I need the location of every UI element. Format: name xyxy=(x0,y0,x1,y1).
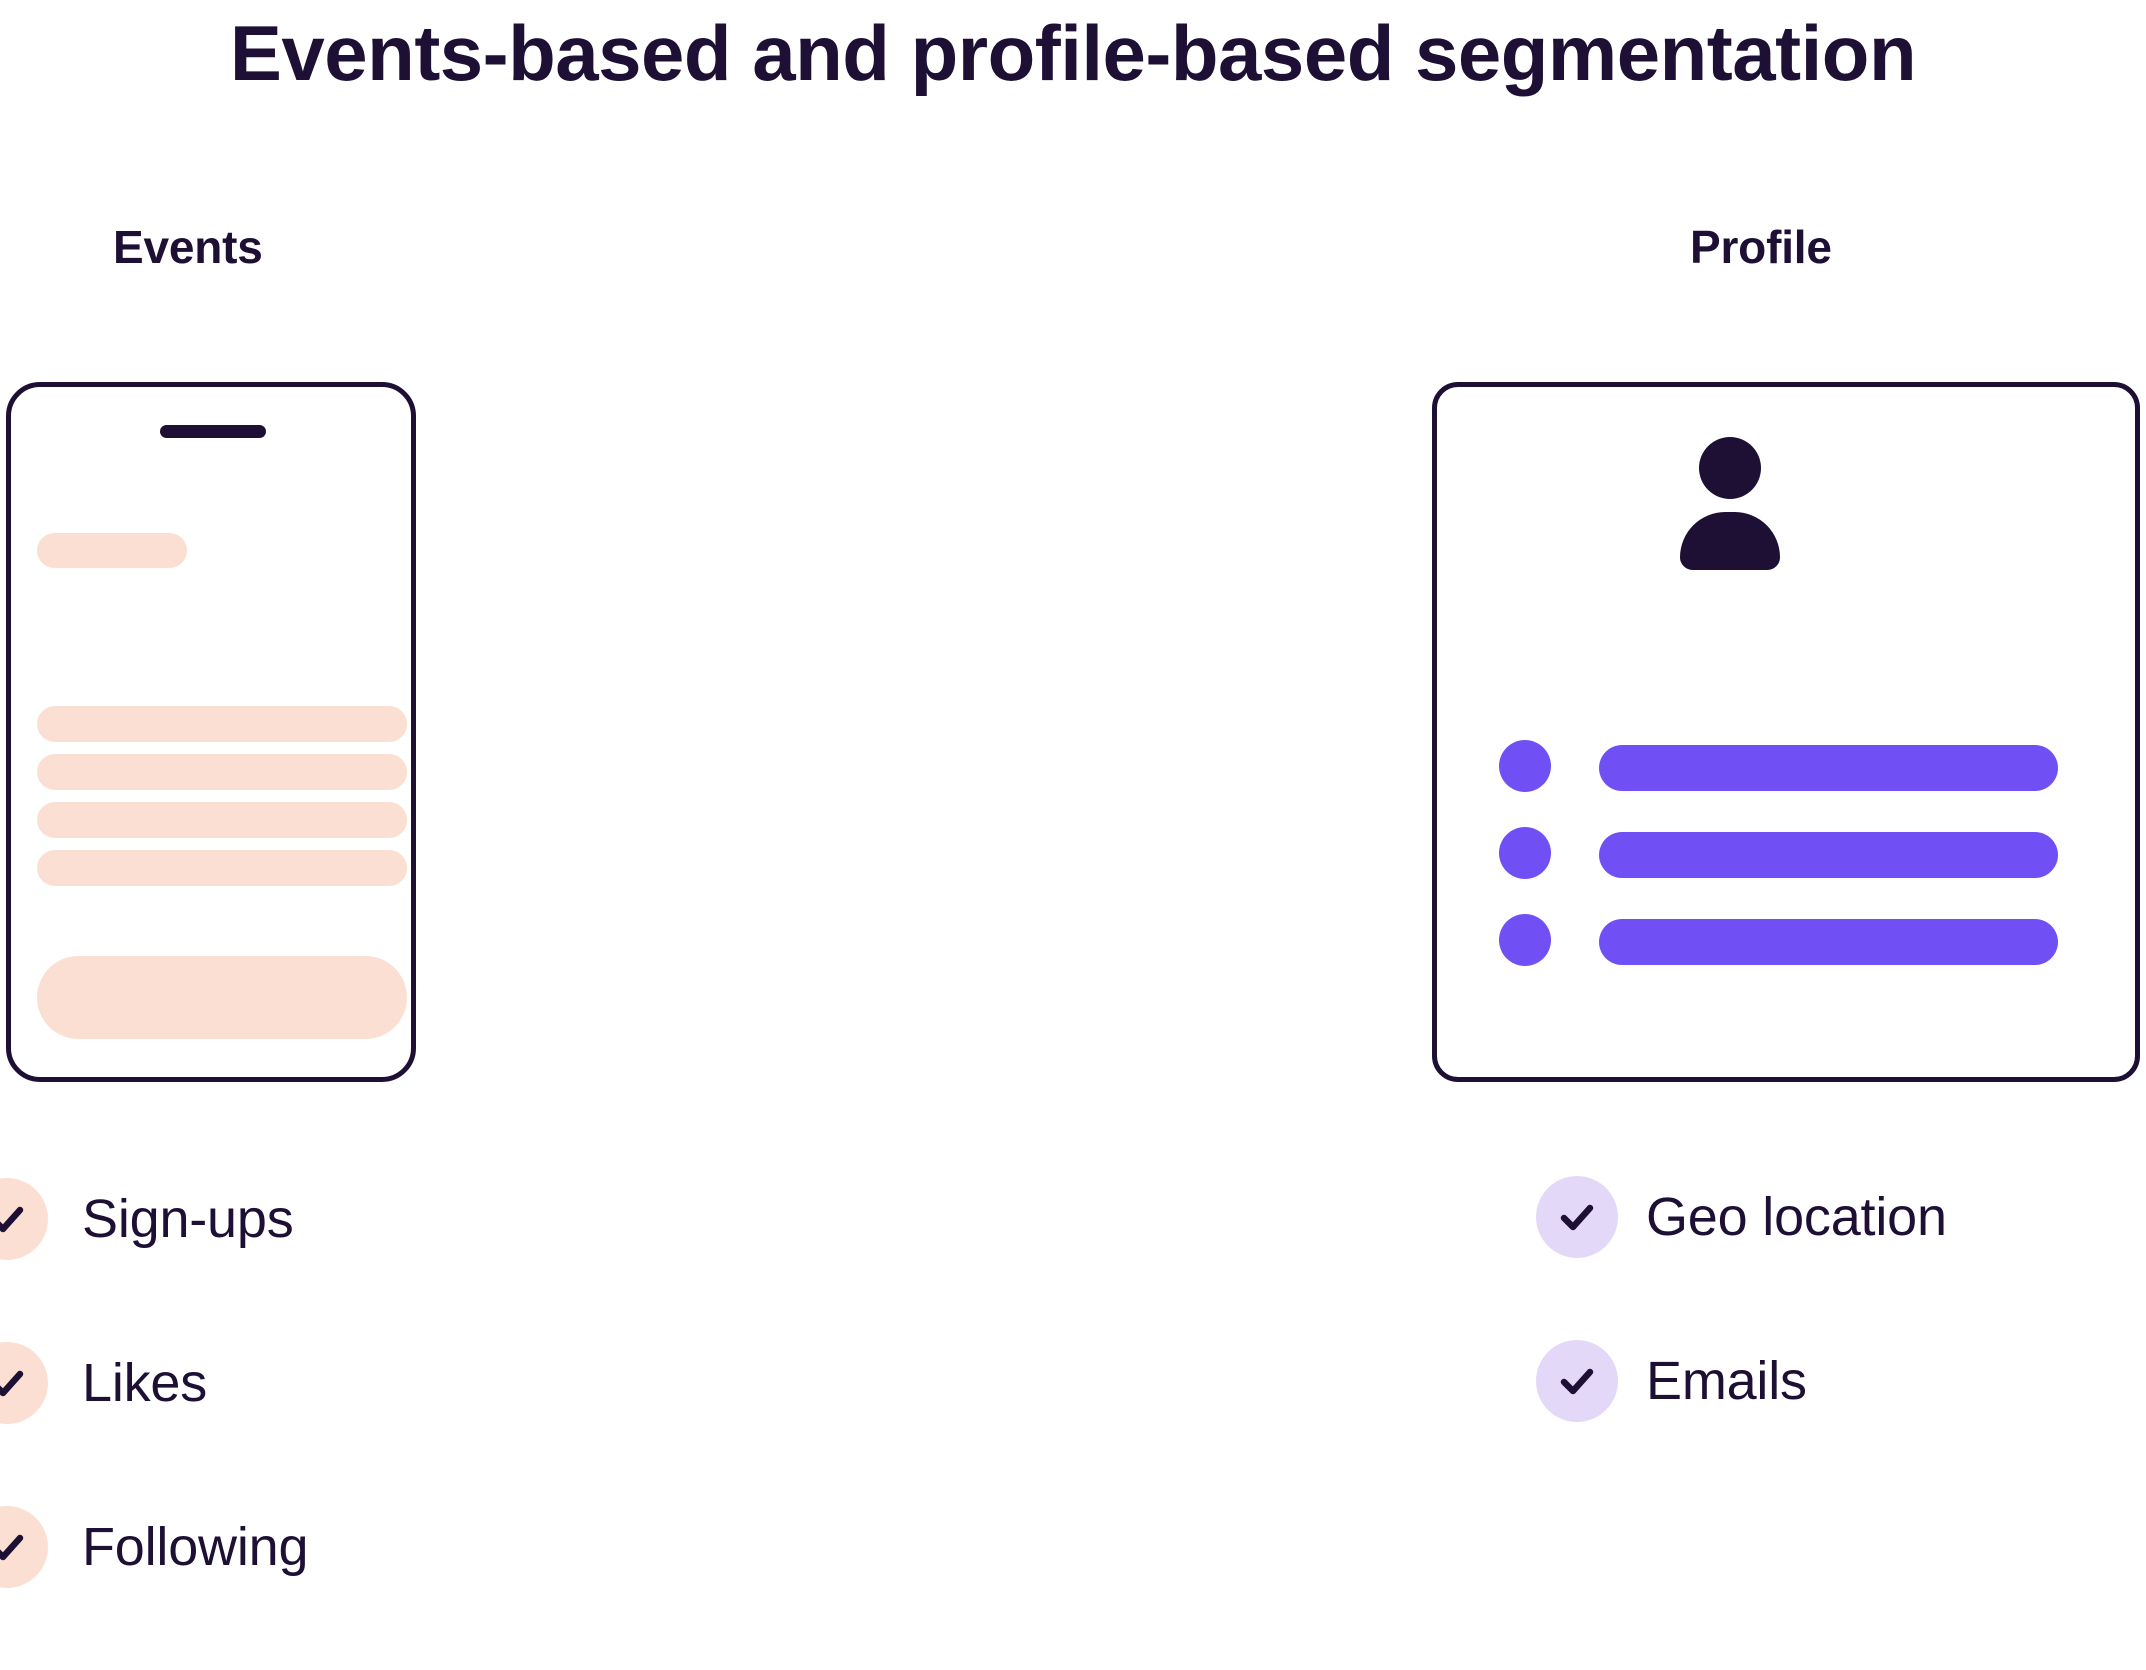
profile-card-mockup xyxy=(1432,382,2140,1082)
checklist-item-label: Sign-ups xyxy=(82,1188,294,1250)
placeholder-bar-line-4 xyxy=(37,850,407,886)
person-icon xyxy=(1680,437,1780,571)
checklist-item-label: Following xyxy=(82,1516,308,1578)
checklist-item-label: Likes xyxy=(82,1352,207,1414)
attribute-bullet-icon xyxy=(1499,914,1551,966)
checklist-item[interactable]: Following xyxy=(0,1506,308,1588)
placeholder-bar-title xyxy=(37,533,187,568)
person-icon-body xyxy=(1680,512,1780,570)
phone-speaker-notch xyxy=(160,425,266,438)
checklist-item-label: Geo location xyxy=(1646,1186,1947,1248)
phone-mockup xyxy=(6,382,416,1082)
placeholder-bar-line-3 xyxy=(37,802,407,838)
placeholder-bar-line-1 xyxy=(37,706,407,742)
checklist-item[interactable]: Emails xyxy=(1536,1340,1947,1422)
placeholder-bar-block xyxy=(37,956,407,1039)
column-heading-events: Events xyxy=(113,220,263,274)
checklist-item[interactable]: Sign-ups xyxy=(0,1178,308,1260)
check-icon xyxy=(0,1506,48,1588)
attribute-bar xyxy=(1599,745,2058,791)
checklist-item[interactable]: Geo location xyxy=(1536,1176,1947,1258)
attribute-bar xyxy=(1599,919,2058,965)
attribute-bullet-icon xyxy=(1499,827,1551,879)
events-checklist: Sign-ups Likes Following xyxy=(0,1178,308,1670)
attribute-bar xyxy=(1599,832,2058,878)
checklist-item-label: Emails xyxy=(1646,1350,1807,1412)
checklist-item[interactable]: Likes xyxy=(0,1342,308,1424)
placeholder-bar-line-2 xyxy=(37,754,407,790)
attribute-bullet-icon xyxy=(1499,740,1551,792)
profile-checklist: Geo location Emails xyxy=(1536,1176,1947,1504)
check-icon xyxy=(0,1178,48,1260)
check-icon xyxy=(1536,1176,1618,1258)
page-title: Events-based and profile-based segmentat… xyxy=(0,10,2146,97)
check-icon xyxy=(1536,1340,1618,1422)
check-icon xyxy=(0,1342,48,1424)
column-heading-profile: Profile xyxy=(1690,220,1832,274)
person-icon-head xyxy=(1699,437,1761,499)
